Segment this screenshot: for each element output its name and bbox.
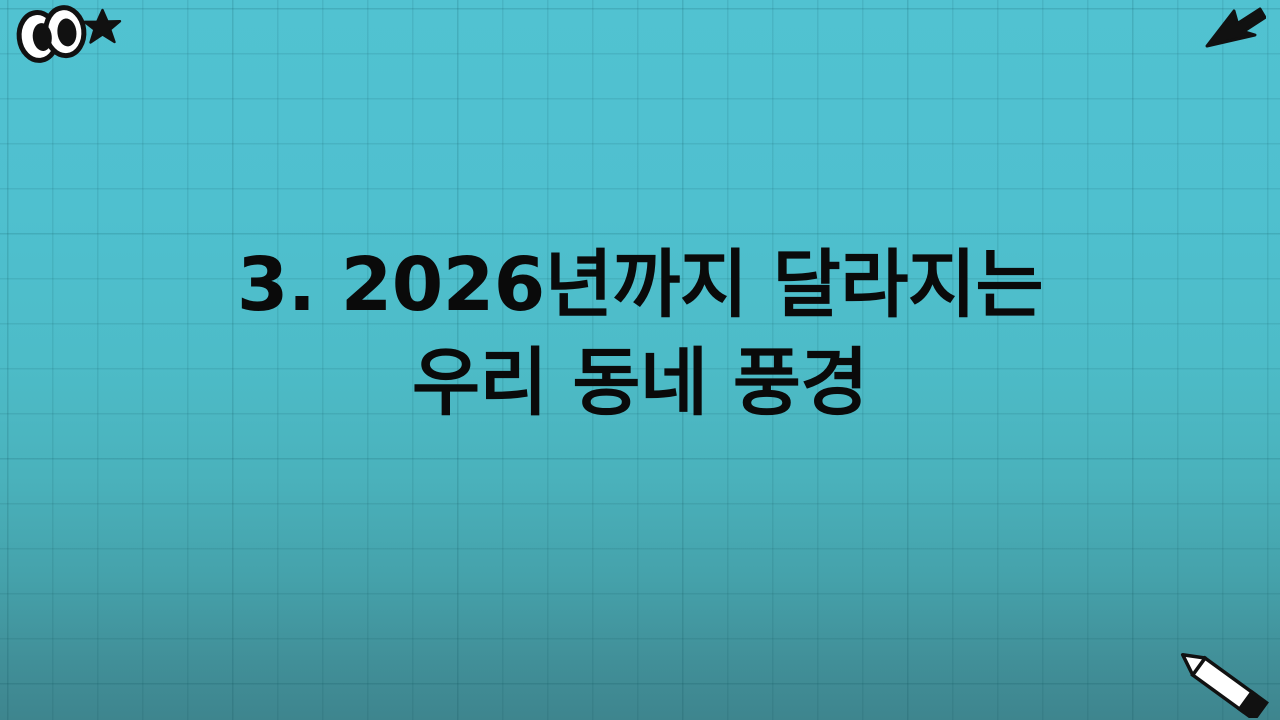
title-line-1: 3. 2026년까지 달라지는 xyxy=(60,236,1220,334)
slide-title: 3. 2026년까지 달라지는 우리 동네 풍경 xyxy=(0,236,1280,433)
slide-canvas: 3. 2026년까지 달라지는 우리 동네 풍경 xyxy=(0,0,1280,720)
title-line-2: 우리 동네 풍경 xyxy=(60,334,1220,432)
